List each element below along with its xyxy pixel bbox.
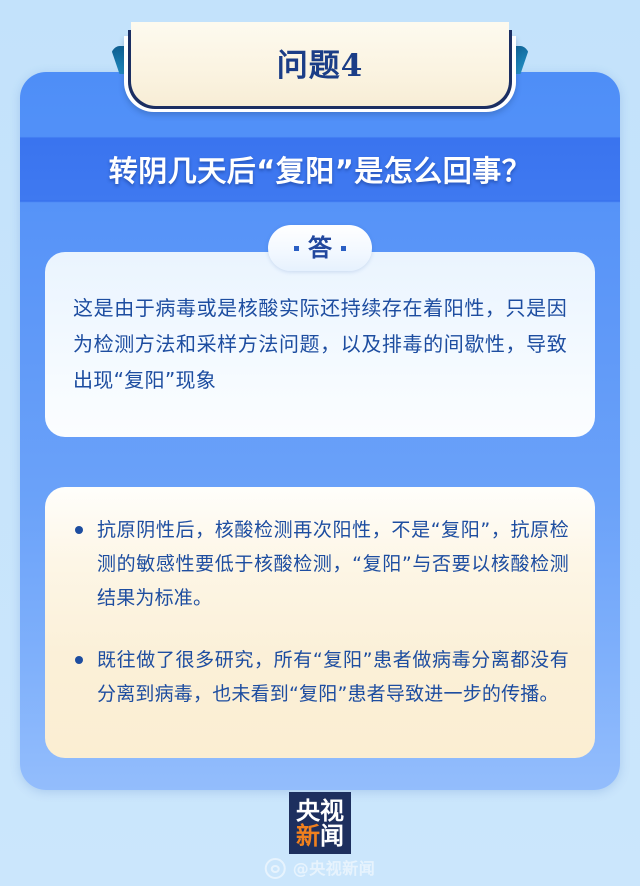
ribbon-body: 问题4 xyxy=(131,22,509,106)
weibo-icon xyxy=(265,858,286,879)
question-number-label: 问题4 xyxy=(277,47,364,82)
logo-char-yang: 央 xyxy=(296,799,320,823)
logo-char-xin: 新 xyxy=(296,824,320,848)
badge-dot-left xyxy=(294,246,299,251)
bullet-dot-icon xyxy=(75,656,83,664)
ribbon-outline: 问题4 xyxy=(124,36,516,112)
page-title: 转阴几天后“复阳”是怎么回事？ xyxy=(20,138,620,200)
ribbon-inner-outline: 问题4 xyxy=(128,30,512,109)
answer-card: 这是由于病毒或是核酸实际还持续存在着阳性，只是因为检测方法和采样方法问题，以及排… xyxy=(45,252,595,437)
bullet-text: 既往做了很多研究，所有“复阳”患者做病毒分离都没有分离到病毒，也未看到“复阳”患… xyxy=(97,643,569,711)
logo-char-wen: 闻 xyxy=(320,824,344,848)
cctv-news-logo: 央 视 新 闻 xyxy=(289,792,351,854)
main-card: 转阴几天后“复阳”是怎么回事？ 答 这是由于病毒或是核酸实际还持续存在着阳性，只… xyxy=(20,72,620,790)
bullet-text: 抗原阴性后，核酸检测再次阳性，不是“复阳”，抗原检测的敏感性要低于核酸检测，“复… xyxy=(97,513,569,615)
question-ribbon: 问题4 xyxy=(110,36,530,120)
bullets-card: 抗原阴性后，核酸检测再次阳性，不是“复阳”，抗原检测的敏感性要低于核酸检测，“复… xyxy=(45,487,595,758)
poster-canvas: 转阴几天后“复阳”是怎么回事？ 答 这是由于病毒或是核酸实际还持续存在着阳性，只… xyxy=(0,0,640,886)
logo-char-shi: 视 xyxy=(320,799,344,823)
logo-line-top: 央 视 xyxy=(296,799,344,823)
list-item: 抗原阴性后，核酸检测再次阳性，不是“复阳”，抗原检测的敏感性要低于核酸检测，“复… xyxy=(71,513,569,615)
badge-dot-right xyxy=(341,246,346,251)
answer-text: 这是由于病毒或是核酸实际还持续存在着阳性，只是因为检测方法和采样方法问题，以及排… xyxy=(73,290,567,398)
logo-line-bottom: 新 闻 xyxy=(296,824,344,848)
answer-badge: 答 xyxy=(268,225,372,271)
bullet-dot-icon xyxy=(75,526,83,534)
answer-badge-label: 答 xyxy=(308,236,332,260)
list-item: 既往做了很多研究，所有“复阳”患者做病毒分离都没有分离到病毒，也未看到“复阳”患… xyxy=(71,643,569,711)
weibo-watermark: @央视新闻 xyxy=(265,858,376,879)
weibo-handle: @央视新闻 xyxy=(293,861,376,877)
